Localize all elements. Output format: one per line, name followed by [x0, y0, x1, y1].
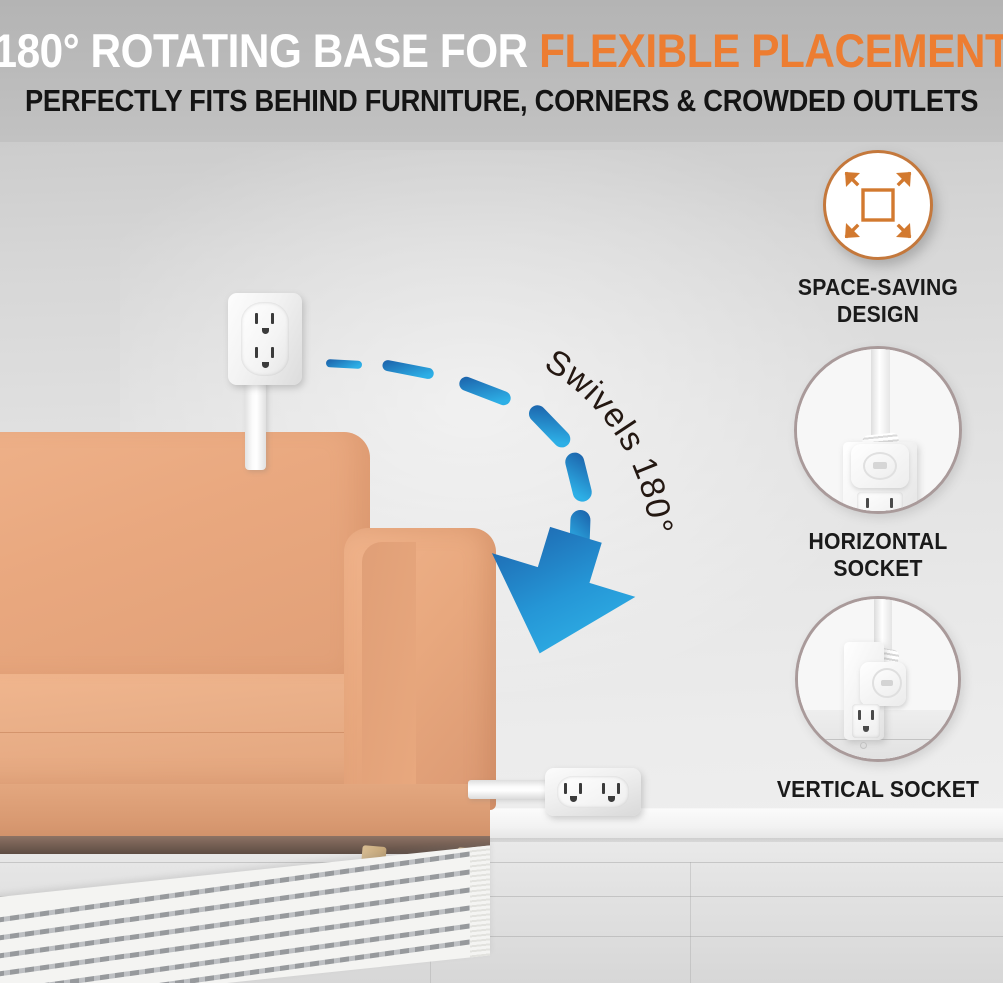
- vertical-socket-photo-circle: [795, 596, 961, 762]
- callout-label-line: DESIGN: [763, 301, 993, 328]
- outlet-socket: [250, 345, 280, 371]
- callout-space-saving[interactable]: SPACE-SAVING DESIGN: [753, 150, 1003, 328]
- product-cord: [871, 346, 890, 446]
- callout-label-line: SOCKET: [763, 555, 993, 582]
- pass-through-socket: [857, 492, 903, 514]
- sofa-seam: [0, 732, 378, 733]
- wall-duplex-outlet: [228, 293, 302, 385]
- strip-cord-horizontal: [468, 780, 550, 799]
- sofa-seat-cushion: [0, 674, 380, 792]
- callout-label-line: VERTICAL SOCKET: [763, 776, 993, 803]
- callout-label-horizontal-socket: HORIZONTAL SOCKET: [763, 528, 993, 582]
- swivel-arc-arrow-graphic: [318, 350, 678, 660]
- swivel-arrowhead: [468, 513, 648, 660]
- expand-square-icon: [841, 168, 915, 242]
- floor-plank-line: [690, 862, 691, 983]
- swivel-dial-mark: [873, 462, 887, 469]
- callout-vertical-socket[interactable]: VERTICAL SOCKET: [753, 596, 1003, 803]
- headline-white-part: 180° ROTATING BASE FOR: [0, 24, 539, 77]
- sofa-base: [0, 784, 490, 844]
- callout-label-line: SPACE-SAVING: [763, 274, 993, 301]
- sofa-underside-shadow: [0, 836, 490, 854]
- horizontal-socket-photo: [797, 346, 959, 514]
- product-feature-graphic: Swivels 180° 180° ROTATING BASE FOR FLEX…: [0, 0, 1003, 983]
- feature-callout-column: SPACE-SAVING DESIGN: [753, 150, 1003, 803]
- floor-plank-line: [0, 862, 1003, 863]
- swivel-dash-group: [326, 359, 594, 554]
- pass-through-socket: [852, 704, 880, 738]
- vertical-socket-photo: [798, 596, 958, 762]
- headline-orange-part: FLEXIBLE PLACEMENT: [539, 24, 1003, 77]
- callout-horizontal-socket[interactable]: HORIZONTAL SOCKET: [753, 346, 1003, 582]
- callout-label-vertical-socket: VERTICAL SOCKET: [763, 776, 993, 803]
- plate-screw: [860, 742, 867, 749]
- header-banner: 180° ROTATING BASE FOR FLEXIBLE PLACEMEN…: [0, 0, 1003, 142]
- subheadline: PERFECTLY FITS BEHIND FURNITURE, CORNERS…: [25, 84, 978, 118]
- space-saving-icon-circle: [823, 150, 933, 260]
- callout-label-line: HORIZONTAL: [763, 528, 993, 555]
- strip-socket: [598, 781, 626, 803]
- callout-label-space-saving: SPACE-SAVING DESIGN: [763, 274, 993, 328]
- outlet-cord-vertical: [245, 378, 266, 470]
- rug-fringe: [470, 845, 490, 957]
- horizontal-socket-photo-circle: [794, 346, 962, 514]
- headline: 180° ROTATING BASE FOR FLEXIBLE PLACEMEN…: [0, 26, 1003, 76]
- strip-socket: [560, 781, 588, 803]
- outlet-socket: [250, 311, 280, 337]
- swivel-dial-mark: [881, 680, 893, 686]
- sofa-back-cushion: [0, 432, 370, 692]
